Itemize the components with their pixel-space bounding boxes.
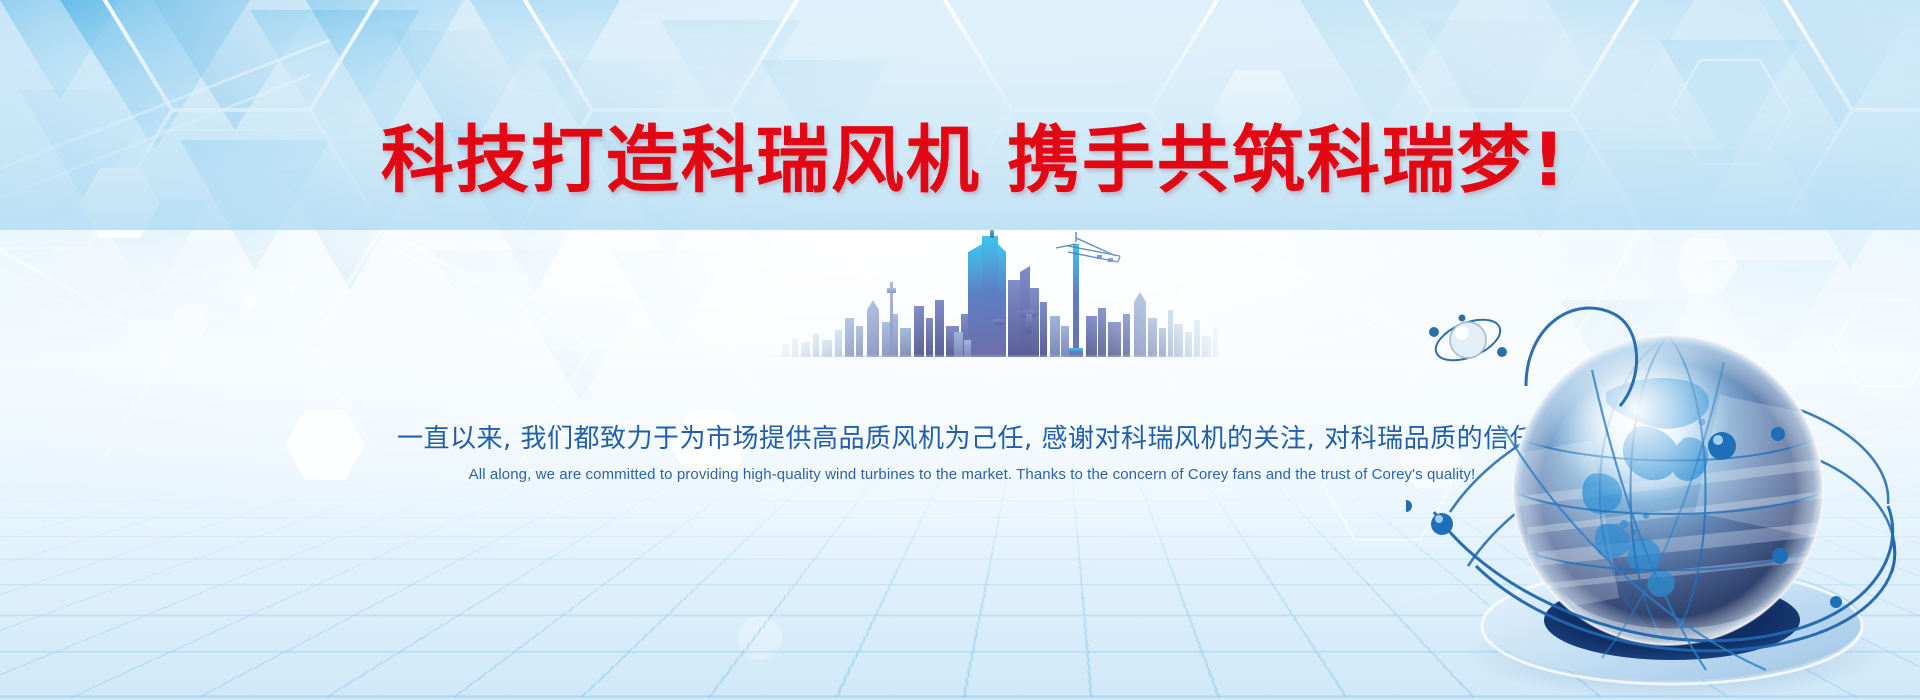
satellite-atom (1429, 312, 1507, 369)
headline-part-1: 科技打造科瑞风机 (381, 118, 981, 203)
city-skyline-graphic (768, 222, 1228, 357)
headline-part-2: 携手共筑科瑞梦! (1007, 118, 1567, 203)
page-title: 科技打造科瑞风机携手共筑科瑞梦! (0, 124, 1920, 197)
promotional-banner: 科技打造科瑞风机携手共筑科瑞梦! (0, 0, 1920, 700)
globe-graphic (1406, 266, 1920, 700)
